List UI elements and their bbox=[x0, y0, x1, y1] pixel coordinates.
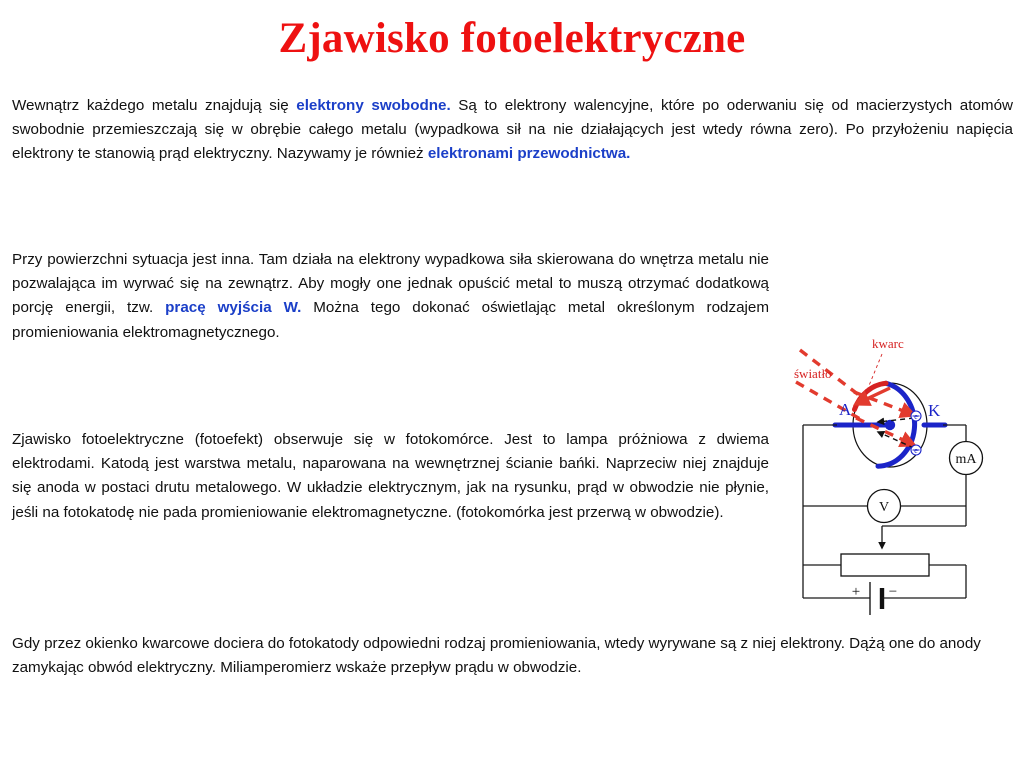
paragraph-work-function: Przy powierzchni sytuacja jest inna. Tam… bbox=[12, 248, 769, 345]
light-ray-2 bbox=[796, 382, 862, 420]
photocell-circuit-diagram: e e światło kwarc A K mA V bbox=[790, 330, 1024, 620]
voltmeter-label: V bbox=[879, 500, 889, 515]
p2-highlight-work-function: pracę wyjścia W. bbox=[165, 299, 301, 316]
electron-path-1 bbox=[878, 418, 914, 422]
p1-segment-1: Wewnątrz każdego metalu znajdują się bbox=[12, 97, 296, 114]
paragraph-quartz-window: Gdy przez okienko kwarcowe dociera do fo… bbox=[12, 632, 1013, 680]
p1-highlight-free-electrons: elektrony swobodne. bbox=[296, 97, 450, 114]
p1-highlight-conduction-electrons: elektronami przewodnictwa. bbox=[428, 145, 631, 162]
potentiometer-body bbox=[841, 554, 929, 576]
label-anode: A bbox=[839, 400, 852, 419]
label-quartz: kwarc bbox=[872, 336, 904, 351]
battery-minus-label: − bbox=[889, 584, 897, 600]
label-cathode: K bbox=[928, 401, 941, 420]
paragraph-photocell: Zjawisko fotoelektryczne (fotoefekt) obs… bbox=[12, 428, 769, 525]
label-light: światło bbox=[794, 366, 832, 381]
battery-plus-label: + bbox=[852, 584, 860, 600]
light-ray-inner-2 bbox=[856, 418, 914, 445]
paragraph-free-electrons: Wewnątrz każdego metalu znajdują się ele… bbox=[12, 94, 1013, 167]
page-title: Zjawisko fotoelektryczne bbox=[0, 14, 1024, 64]
milliammeter-label: mA bbox=[956, 452, 978, 467]
